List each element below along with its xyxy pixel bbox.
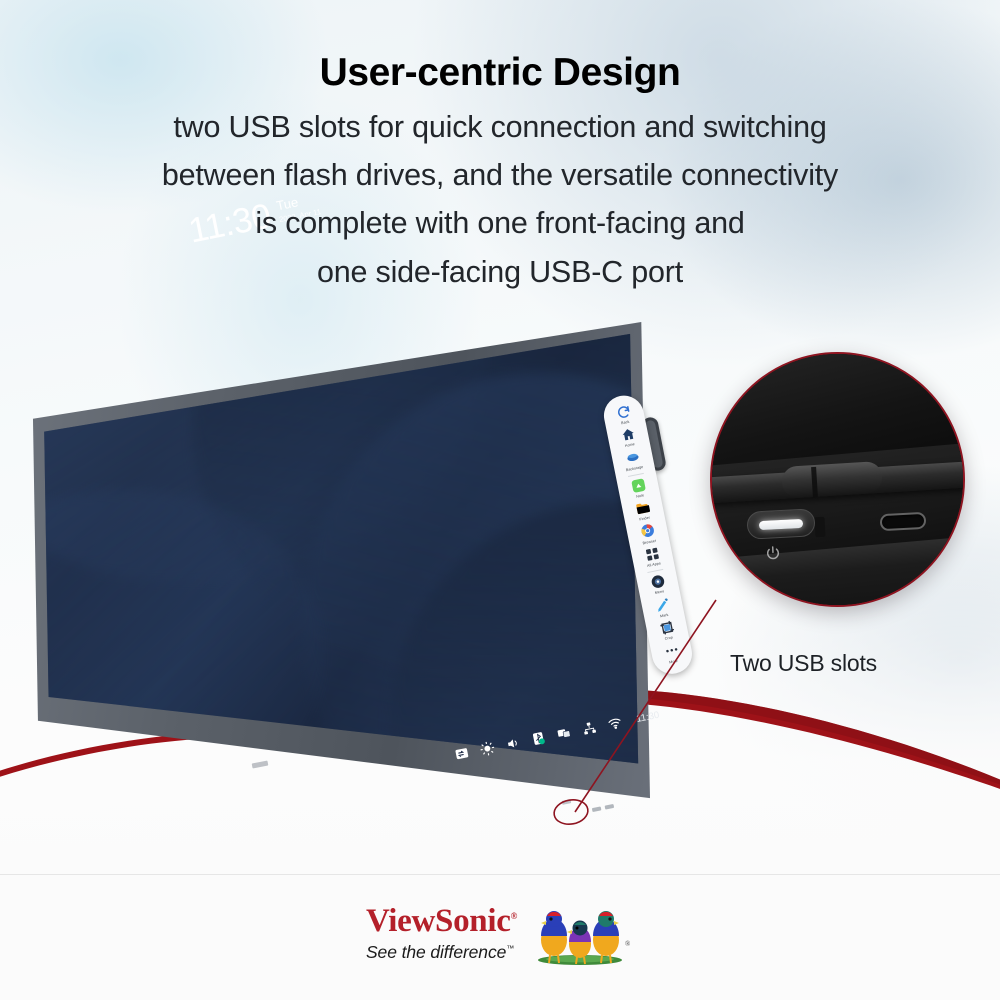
- network-icon[interactable]: [581, 720, 597, 736]
- volume-icon[interactable]: [505, 735, 521, 751]
- logo-tagline-text: See the difference: [366, 942, 506, 962]
- all-apps-icon: [643, 545, 661, 563]
- usb-c-port: [880, 512, 927, 531]
- power-button[interactable]: [746, 508, 815, 540]
- subtitle-line-3: is complete with one front-facing and: [0, 199, 1000, 247]
- sidebar-item-label: Crop: [664, 636, 673, 642]
- sidebar-item-label: Menu: [655, 590, 665, 596]
- home-icon: [619, 426, 637, 444]
- browser-icon: [638, 522, 656, 540]
- backstage-icon: [624, 449, 642, 467]
- page-title: User-centric Design: [0, 52, 1000, 94]
- headline-block: User-centric Design two USB slots for qu…: [0, 52, 1000, 296]
- finder-icon: [634, 499, 652, 517]
- registered-mark: ®: [511, 911, 517, 921]
- sidebar-item-more[interactable]: More: [650, 639, 693, 667]
- red-ribbon-right: [640, 684, 1000, 794]
- back-icon: [614, 403, 632, 421]
- sidebar-item-label: More: [669, 658, 678, 664]
- sidebar-item-all-apps[interactable]: All Apps: [631, 543, 674, 571]
- taskbar-clock: 11:30: [635, 709, 660, 724]
- power-symbol-icon: [764, 544, 781, 561]
- sidebar-item-label: Note: [636, 493, 645, 499]
- sidebar-item-backstage[interactable]: Backstage: [611, 446, 654, 474]
- sidebar-item-label: Back: [621, 419, 630, 425]
- sidebar-item-label: Home: [625, 442, 636, 448]
- subtitle-line-2: between flash drives, and the versatile …: [0, 151, 1000, 199]
- wifi-icon[interactable]: [607, 715, 623, 731]
- power-led: [759, 518, 803, 529]
- sidebar-item-label: Mark: [660, 613, 669, 619]
- more-icon: [663, 642, 681, 660]
- viewsonic-logo: ViewSonic® See the difference™: [0, 902, 1000, 966]
- callout-caption: Two USB slots: [730, 650, 877, 677]
- page-subtitle: two USB slots for quick connection and s…: [0, 103, 1000, 296]
- menu-icon: [649, 573, 667, 591]
- logo-text-block: ViewSonic® See the difference™: [366, 905, 517, 963]
- subtitle-line-4: one side-facing USB-C port: [0, 248, 1000, 296]
- interactive-display: [28, 322, 668, 832]
- logo-tagline: See the difference™: [366, 942, 517, 963]
- svg-text:®: ®: [625, 940, 631, 948]
- usb-callout-magnifier: [710, 352, 965, 607]
- trademark-mark: ™: [506, 944, 514, 953]
- note-icon: [629, 477, 647, 495]
- brightness-icon[interactable]: [479, 740, 495, 756]
- logo-brand-name: ViewSonic®: [366, 905, 517, 938]
- logo-brand-word: ViewSonic: [366, 903, 511, 939]
- input-source-icon[interactable]: [454, 745, 470, 761]
- screen-share-icon[interactable]: [556, 725, 572, 741]
- subtitle-line-1: two USB slots for quick connection and s…: [0, 103, 1000, 151]
- sidebar-item-label: Finder: [639, 516, 650, 522]
- usb-slot: [814, 517, 825, 537]
- bluetooth-icon[interactable]: [530, 730, 546, 746]
- gouldian-finches-icon: ®: [526, 902, 634, 966]
- mark-icon: [653, 596, 671, 614]
- crop-icon: [658, 619, 676, 637]
